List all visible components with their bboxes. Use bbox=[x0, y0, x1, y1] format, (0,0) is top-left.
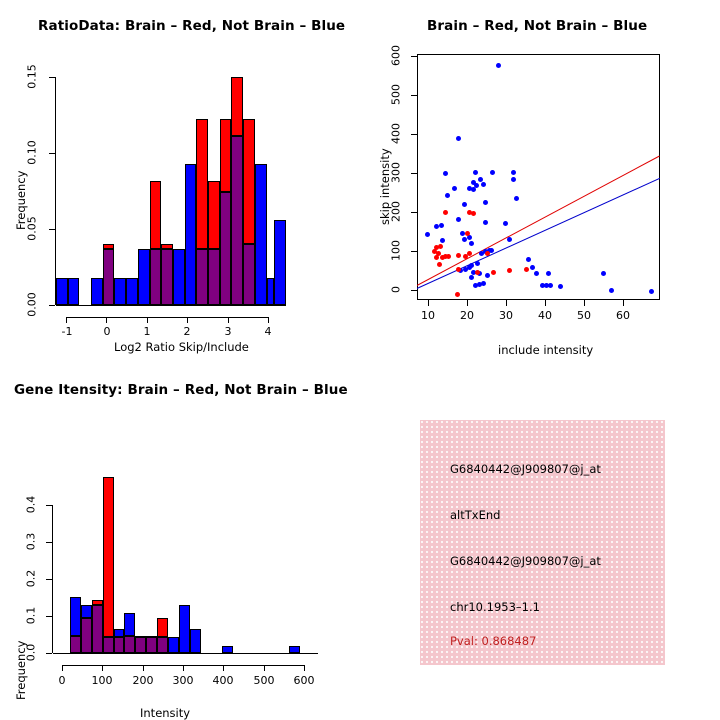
scatter-point-red-19 bbox=[491, 270, 496, 275]
scatter-point-red-20 bbox=[507, 268, 512, 273]
ratio-bar-blue-0 bbox=[56, 278, 68, 305]
ratio-bar-blue-18 bbox=[267, 278, 275, 305]
ratio-bar-red-14 bbox=[220, 119, 232, 192]
scatter-point-red-8 bbox=[434, 255, 439, 260]
event-type: altTxEnd bbox=[450, 508, 500, 522]
scatter-point-blue-33 bbox=[475, 261, 480, 266]
ratio-bar-overlap-9 bbox=[161, 249, 173, 305]
ratio-bar-overlap-13 bbox=[208, 249, 220, 305]
ratio-bar-blue-6 bbox=[126, 278, 138, 305]
scatter-x-tick-10 bbox=[428, 300, 429, 306]
gene-bar-overlap-5 bbox=[124, 636, 135, 653]
scatter-x-ticklabel-60: 60 bbox=[608, 309, 638, 322]
scatter-y-ticklabel-200: 200 bbox=[390, 196, 403, 228]
gene-bar-overlap-4 bbox=[114, 637, 125, 653]
scatter-point-blue-4 bbox=[490, 170, 495, 175]
scatter-y-ticklabel-300: 300 bbox=[390, 157, 403, 189]
scatter-point-blue-44 bbox=[481, 281, 486, 286]
gene-bar-blue-1 bbox=[81, 605, 92, 618]
scatter-point-blue-26 bbox=[469, 241, 474, 246]
scatter-point-blue-11 bbox=[445, 193, 450, 198]
ratio-bar-red-12 bbox=[196, 119, 208, 249]
scatter-point-blue-54 bbox=[609, 288, 614, 293]
ratio-histogram-bars bbox=[0, 0, 360, 360]
gene-bar-overlap-7 bbox=[146, 637, 157, 653]
scatter-point-blue-32 bbox=[479, 251, 484, 256]
ratio-bar-overlap-15 bbox=[231, 136, 243, 305]
scatter-point-blue-6 bbox=[511, 177, 516, 182]
scatter-point-blue-46 bbox=[530, 265, 535, 270]
ratio-bar-red-15 bbox=[231, 77, 243, 136]
ratio-bar-blue-3 bbox=[91, 278, 103, 305]
gene-bar-overlap-3 bbox=[103, 637, 114, 653]
scatter-point-red-13 bbox=[456, 253, 461, 258]
gene-bar-overlap-1 bbox=[81, 618, 92, 653]
scatter-points-layer bbox=[417, 54, 660, 300]
gene-bar-blue-12 bbox=[222, 646, 233, 653]
scatter-point-blue-51 bbox=[546, 271, 551, 276]
ratio-bar-blue-10 bbox=[173, 249, 185, 305]
scatter-y-ticklabel-100: 100 bbox=[390, 235, 403, 267]
scatter-point-blue-1 bbox=[456, 136, 461, 141]
scatter-point-red-0 bbox=[443, 210, 448, 215]
scatter-point-blue-27 bbox=[483, 220, 488, 225]
scatter-point-red-17 bbox=[456, 267, 461, 272]
ratio-bar-blue-1 bbox=[68, 278, 80, 305]
scatter-point-blue-14 bbox=[462, 202, 467, 207]
scatter-point-blue-13 bbox=[481, 182, 486, 187]
scatter-point-blue-10 bbox=[452, 186, 457, 191]
scatter-point-red-2 bbox=[471, 211, 476, 216]
scatter-point-blue-22 bbox=[456, 217, 461, 222]
scatter-point-blue-52 bbox=[558, 284, 563, 289]
pval-text: Pval: 0.868487 bbox=[450, 634, 536, 648]
scatter-x-ticklabel-40: 40 bbox=[530, 309, 560, 322]
scatter-point-blue-23 bbox=[460, 231, 465, 236]
ratio-bar-overlap-12 bbox=[196, 249, 208, 305]
gene-bar-blue-13 bbox=[289, 646, 300, 653]
scatter-point-blue-2 bbox=[443, 171, 448, 176]
scatter-point-red-5 bbox=[438, 244, 443, 249]
gene-bar-overlap-0 bbox=[70, 636, 81, 653]
scatter-point-blue-45 bbox=[526, 257, 531, 262]
gene-bar-overlap-6 bbox=[135, 637, 146, 653]
ratio-bar-overlap-14 bbox=[220, 192, 232, 305]
scatter-point-blue-20 bbox=[425, 232, 430, 237]
scatter-point-blue-24 bbox=[462, 237, 467, 242]
scatter-x-tick-40 bbox=[545, 300, 546, 306]
scatter-point-red-16 bbox=[485, 251, 490, 256]
scatter-x-tick-20 bbox=[467, 300, 468, 306]
gene-bar-overlap-8 bbox=[157, 637, 168, 653]
scatter-x-ticklabel-10: 10 bbox=[413, 309, 443, 322]
ratio-bar-red-8 bbox=[150, 181, 162, 249]
scatter-x-tick-60 bbox=[623, 300, 624, 306]
scatter-x-tick-30 bbox=[506, 300, 507, 306]
gene-histogram-bars bbox=[0, 360, 360, 720]
ratio-bar-blue-7 bbox=[138, 249, 150, 305]
scatter-point-blue-40 bbox=[485, 273, 490, 278]
scatter-point-blue-16 bbox=[483, 200, 488, 205]
panel-probe-info: G6840442@J909807@j_at altTxEnd G6840442@… bbox=[420, 420, 665, 665]
scatter-point-red-22 bbox=[455, 292, 460, 297]
scatter-point-red-18 bbox=[475, 270, 480, 275]
panel-scatter: Brain – Red, Not Brain – Blue skip inten… bbox=[360, 0, 720, 360]
scatter-point-red-11 bbox=[446, 254, 451, 259]
scatter-y-ticklabel-400: 400 bbox=[390, 118, 403, 150]
gene-bar-blue-5 bbox=[124, 613, 135, 636]
scatter-point-blue-41 bbox=[469, 275, 474, 280]
gene-bar-overlap-2 bbox=[92, 605, 103, 653]
gene-bar-blue-0 bbox=[70, 597, 81, 635]
ratio-bar-blue-5 bbox=[114, 278, 126, 305]
gene-bar-blue-9 bbox=[168, 637, 179, 653]
gene-bar-red-8 bbox=[157, 618, 168, 637]
gene-bar-red-3 bbox=[103, 477, 114, 637]
ratio-bar-red-16 bbox=[243, 119, 255, 244]
probe-id-secondary: G6840442@J909807@j_at bbox=[450, 554, 601, 568]
ratio-bar-red-13 bbox=[208, 181, 220, 249]
scatter-y-ticklabel-600: 600 bbox=[390, 40, 403, 72]
scatter-point-blue-47 bbox=[534, 271, 539, 276]
ratio-bar-blue-17 bbox=[255, 164, 267, 305]
panel-gene-histogram: Gene Itensity: Brain – Red, Not Brain – … bbox=[0, 360, 360, 720]
scatter-point-blue-28 bbox=[503, 221, 508, 226]
scatter-xlabel: include intensity bbox=[498, 343, 593, 357]
ratio-bar-overlap-8 bbox=[150, 249, 162, 305]
scatter-point-blue-29 bbox=[507, 237, 512, 242]
scatter-point-blue-53 bbox=[601, 271, 606, 276]
scatter-y-ticklabel-0: 0 bbox=[390, 278, 403, 302]
gene-bar-blue-4 bbox=[114, 629, 125, 638]
ratio-bar-blue-19 bbox=[274, 220, 286, 305]
gene-bar-blue-10 bbox=[179, 605, 190, 653]
scatter-point-blue-3 bbox=[473, 170, 478, 175]
gene-bar-blue-11 bbox=[190, 629, 201, 653]
scatter-x-ticklabel-50: 50 bbox=[569, 309, 599, 322]
locus-id: chr10.1953–1.1 bbox=[450, 600, 540, 614]
ratio-bar-overlap-16 bbox=[243, 244, 255, 305]
scatter-point-blue-21 bbox=[440, 238, 445, 243]
scatter-point-blue-12 bbox=[471, 187, 476, 192]
scatter-point-blue-55 bbox=[649, 289, 654, 294]
scatter-point-red-12 bbox=[437, 262, 442, 267]
scatter-x-tick-50 bbox=[584, 300, 585, 306]
ratio-bar-overlap-4 bbox=[103, 249, 115, 305]
scatter-trendline-red bbox=[417, 155, 660, 286]
scatter-title: Brain – Red, Not Brain – Blue bbox=[427, 18, 647, 34]
scatter-point-blue-15 bbox=[511, 170, 516, 175]
scatter-point-blue-19 bbox=[439, 223, 444, 228]
scatter-y-ticklabel-500: 500 bbox=[390, 79, 403, 111]
scatter-point-blue-50 bbox=[548, 283, 553, 288]
ratio-bar-blue-11 bbox=[185, 164, 197, 305]
scatter-x-ticklabel-20: 20 bbox=[452, 309, 482, 322]
scatter-point-blue-0 bbox=[496, 63, 501, 68]
scatter-x-ticklabel-30: 30 bbox=[491, 309, 521, 322]
scatter-point-red-21 bbox=[524, 267, 529, 272]
probe-id-primary: G6840442@J909807@j_at bbox=[450, 462, 601, 476]
scatter-point-blue-17 bbox=[514, 196, 519, 201]
panel-ratio-histogram: RatioData: Brain – Red, Not Brain – Blue… bbox=[0, 0, 360, 360]
